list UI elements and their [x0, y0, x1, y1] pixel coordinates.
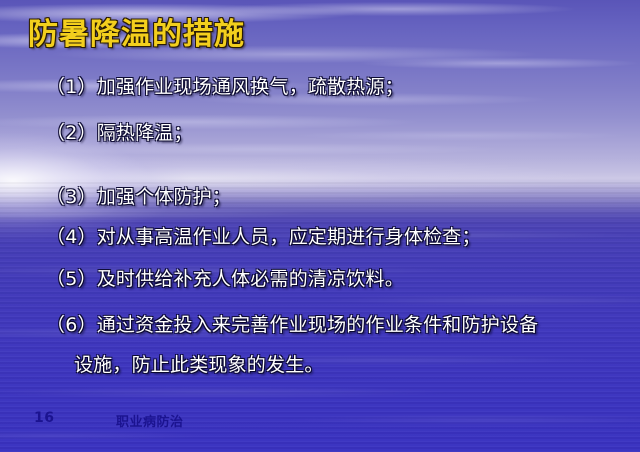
slide-footer: 16 职业病防治: [0, 410, 640, 430]
list-item: （3）加强个体防护；: [0, 182, 231, 209]
page-number: 16: [34, 410, 54, 426]
list-item: （6）通过资金投入来完善作业现场的作业条件和防护设备: [0, 310, 538, 337]
footer-deck-title: 职业病防治: [116, 411, 184, 430]
presentation-slide: 防暑降温的措施 （1）加强作业现场通风换气，疏散热源； （2）隔热降温； （3）…: [0, 0, 640, 452]
list-item: （1）加强作业现场通风换气，疏散热源；: [0, 72, 404, 99]
slide-title: 防暑降温的措施: [28, 16, 245, 54]
list-item: （4）对从事高温作业人员，应定期进行身体检查；: [0, 222, 481, 249]
list-item-continuation: 设施，防止此类现象的发生。: [0, 350, 324, 377]
slide-content: 防暑降温的措施 （1）加强作业现场通风换气，疏散热源； （2）隔热降温； （3）…: [0, 0, 640, 452]
list-item: （5）及时供给补充人体必需的清凉饮料。: [0, 264, 404, 291]
list-item: （2）隔热降温；: [0, 118, 193, 145]
